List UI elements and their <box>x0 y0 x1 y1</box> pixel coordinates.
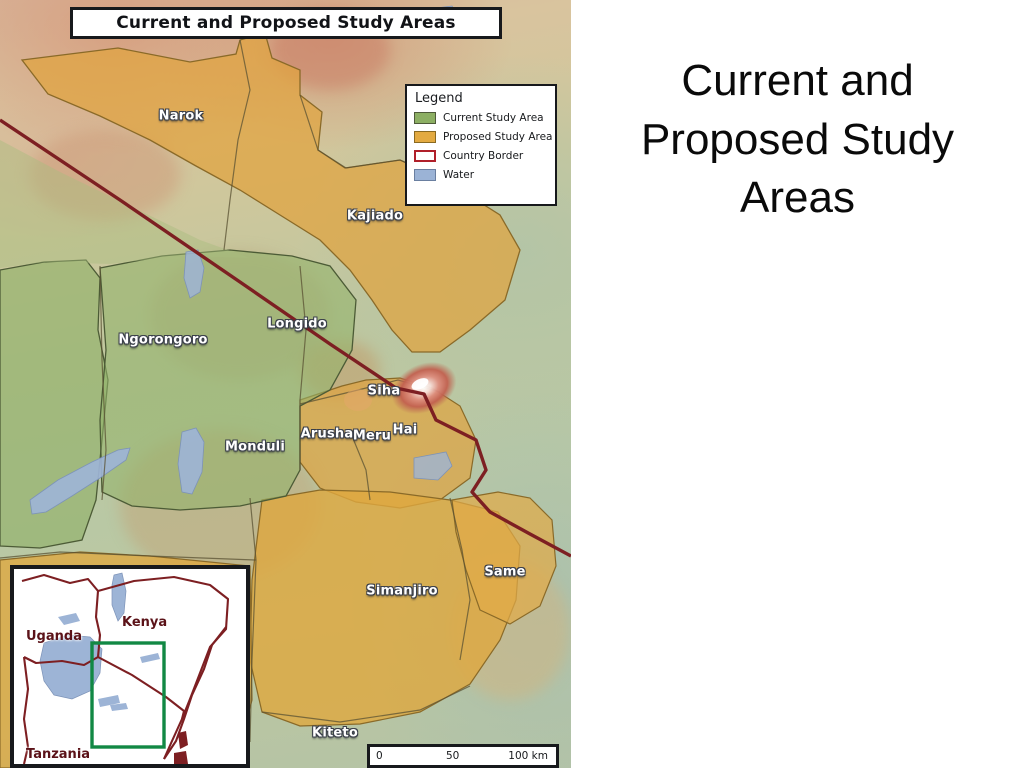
inset-locator-map: Uganda Kenya Tanzania <box>10 565 250 768</box>
map-title-text: Current and Proposed Study Areas <box>116 13 456 33</box>
scale-tick-100: 100 km <box>508 750 548 762</box>
legend-item-country-border: Country Border <box>414 148 548 164</box>
legend-item-current-study-area: Current Study Area <box>414 110 548 126</box>
legend-label-water: Water <box>443 169 474 181</box>
slide-title: Current and Proposed Study Areas <box>591 52 1004 228</box>
map-figure: Narok Kajiado Ngorongoro Longido Siha Ar… <box>0 0 571 768</box>
inset-island-b <box>174 751 188 764</box>
legend-label-proposed-study-area: Proposed Study Area <box>443 131 553 143</box>
scale-tick-0: 0 <box>376 750 383 762</box>
slide-canvas: Narok Kajiado Ngorongoro Longido Siha Ar… <box>0 0 1024 768</box>
inset-vector-layer <box>14 569 246 764</box>
map-scale-bar: 0 50 100 km <box>367 744 559 768</box>
map-title-box: Current and Proposed Study Areas <box>70 7 502 39</box>
legend-title: Legend <box>415 91 548 106</box>
legend-swatch-green <box>414 112 436 124</box>
legend-swatch-country-border <box>414 150 436 162</box>
legend-label-current-study-area: Current Study Area <box>443 112 544 124</box>
mount-meru <box>344 389 372 411</box>
slide-text-panel: Current and Proposed Study Areas <box>571 0 1024 768</box>
legend-item-water: Water <box>414 167 548 183</box>
legend-item-proposed-study-area: Proposed Study Area <box>414 129 548 145</box>
scale-tick-50: 50 <box>446 750 459 762</box>
legend-swatch-orange <box>414 131 436 143</box>
map-legend: Legend Current Study Area Proposed Study… <box>405 84 557 206</box>
legend-label-country-border: Country Border <box>443 150 523 162</box>
legend-swatch-water <box>414 169 436 181</box>
